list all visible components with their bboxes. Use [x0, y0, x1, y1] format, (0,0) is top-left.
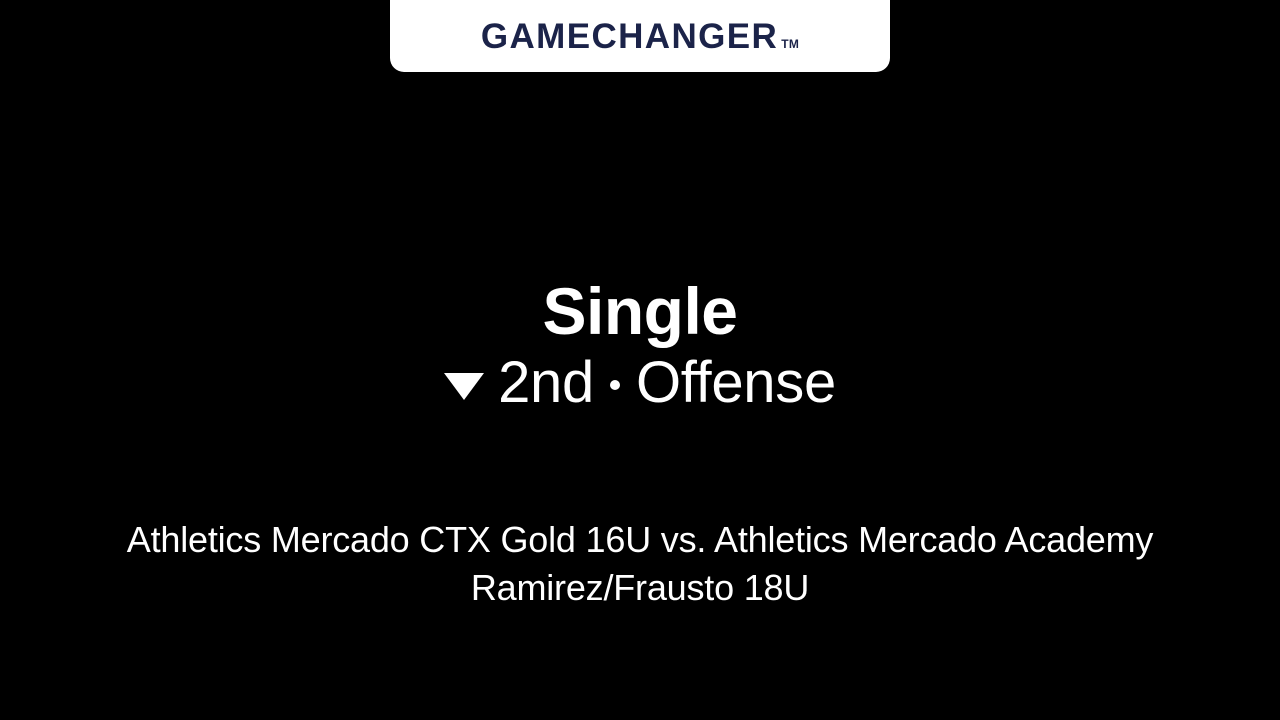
inning-label: 2nd — [498, 354, 594, 412]
triangle-down-icon — [444, 373, 484, 400]
brand-wordmark: GAMECHANGER — [481, 19, 778, 54]
side-label: Offense — [636, 354, 836, 412]
play-result-block: Single 2nd Offense — [0, 278, 1280, 412]
play-context-row: 2nd Offense — [0, 354, 1280, 412]
trademark-symbol: TM — [781, 38, 799, 50]
play-result-title: Single — [0, 278, 1280, 344]
video-overlay-screen: GAMECHANGER TM Single 2nd Offense Athlet… — [0, 0, 1280, 720]
play-context-text: 2nd Offense — [498, 354, 836, 412]
gamechanger-brand-card: GAMECHANGER TM — [390, 0, 890, 72]
separator-dot-icon — [610, 380, 620, 390]
gamechanger-logo: GAMECHANGER TM — [481, 19, 799, 54]
matchup-caption: Athletics Mercado CTX Gold 16U vs. Athle… — [70, 516, 1210, 612]
